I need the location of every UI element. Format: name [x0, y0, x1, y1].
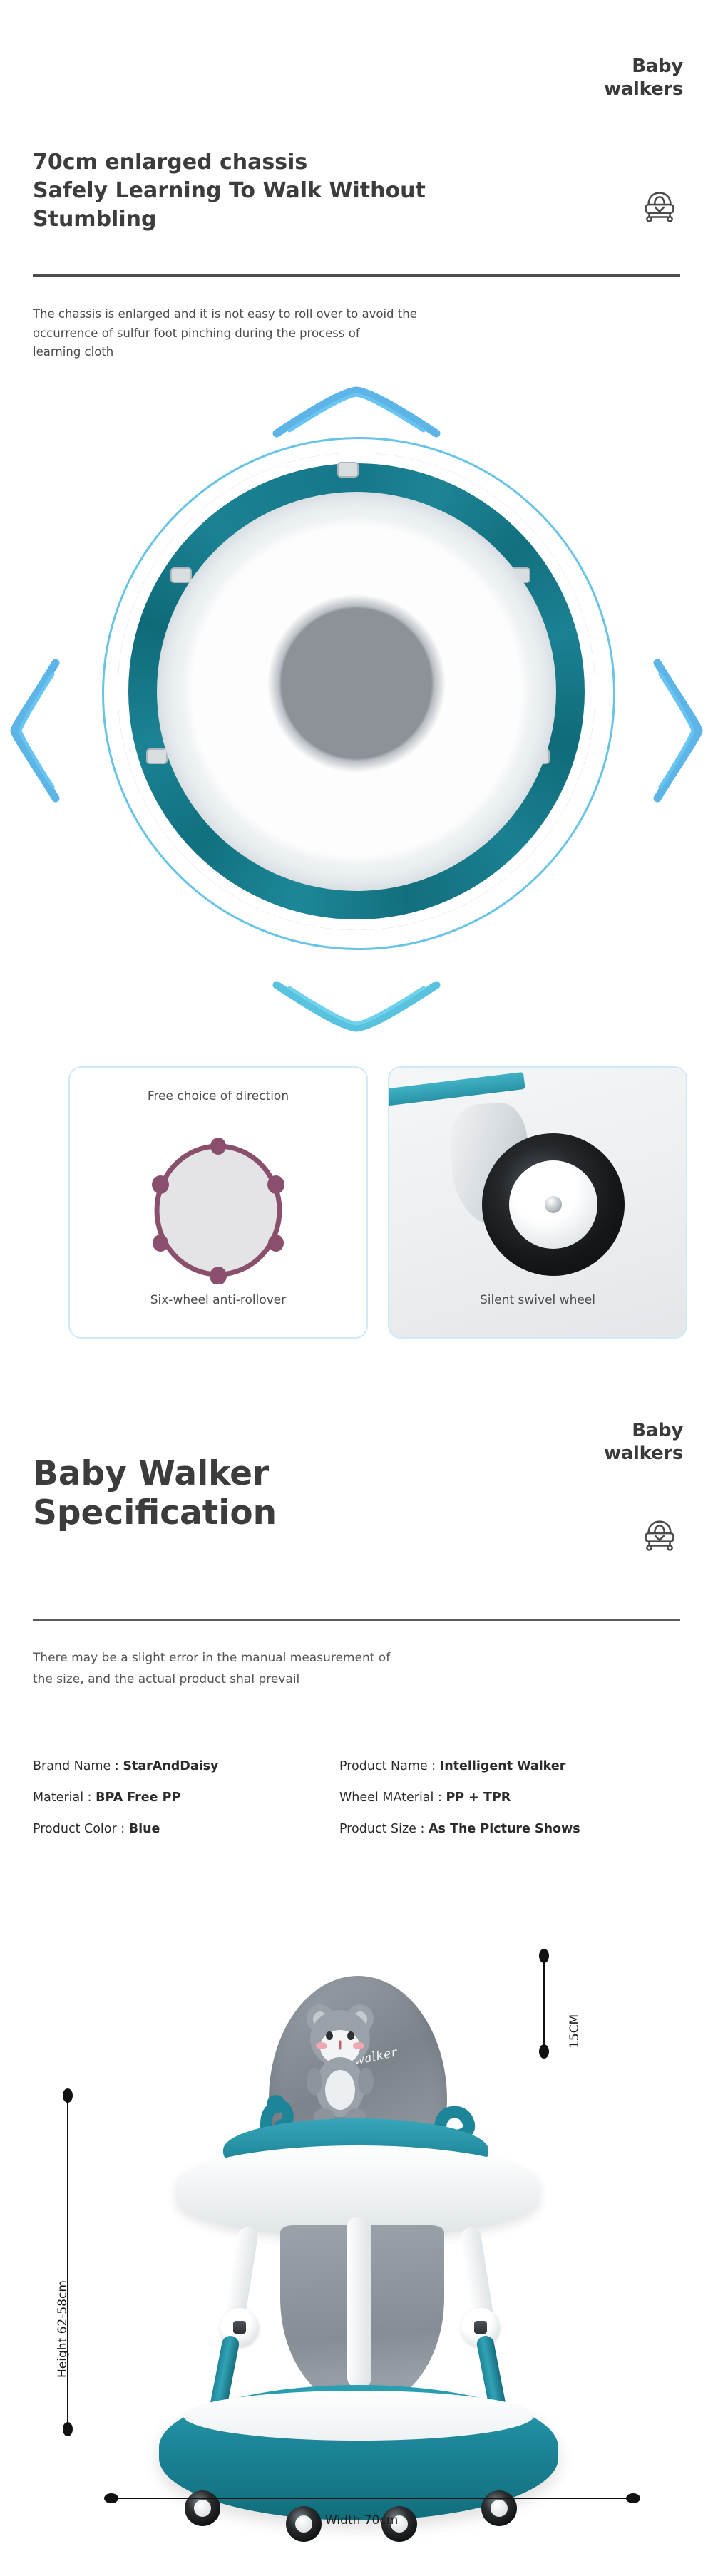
seat-fabric	[282, 622, 431, 800]
chassis-clamp	[509, 567, 530, 583]
brush-arc-left	[7, 656, 63, 805]
spec-value: As The Picture Shows	[429, 1822, 580, 1836]
width-dimension-line	[111, 2498, 632, 2499]
feature-card-row: Free choice of direction Six-wheel anti-…	[0, 1066, 713, 1359]
brush-arc-right	[650, 656, 706, 805]
section-two-title: Baby Walker Specification	[33, 1454, 277, 1533]
feature-card-swivel-wheel[interactable]: Silent swivel wheel	[388, 1066, 687, 1339]
spec-row: Product Size : As The Picture Shows	[339, 1822, 682, 1836]
spec-key: Brand Name :	[33, 1759, 119, 1773]
dimension-endpoint	[63, 2422, 73, 2436]
title-divider-two	[33, 1619, 680, 1621]
spec-value: StarAndDaisy	[123, 1759, 218, 1773]
brush-arc-top	[271, 383, 442, 439]
chassis-clamp	[337, 462, 359, 478]
chassis-clamp	[170, 567, 192, 583]
card-caption-bottom: Six-wheel anti-rollover	[70, 1293, 366, 1307]
title-divider-one	[33, 274, 680, 277]
caster-wheel	[185, 2490, 220, 2526]
spec-row: Wheel MAterial : PP + TPR	[339, 1791, 682, 1805]
dimension-diagram: babywalker	[0, 1889, 713, 2576]
caster-wheel	[481, 2490, 517, 2526]
spec-row: Material : BPA Free PP	[33, 1791, 339, 1805]
seat-height-label: 15CM	[568, 2014, 582, 2049]
baby-walker-icon	[637, 1513, 682, 1557]
frame-center-post	[347, 2217, 371, 2388]
spec-row: Brand Name : StarAndDaisy	[33, 1759, 339, 1773]
spec-value: Blue	[129, 1822, 160, 1836]
specification-grid: Brand Name : StarAndDaisy Product Name :…	[33, 1759, 682, 1836]
overall-height-dimension-line	[67, 2094, 68, 2429]
spec-key: Wheel MAterial :	[339, 1791, 442, 1805]
dimension-endpoint	[104, 2493, 118, 2503]
spec-value: BPA Free PP	[96, 1791, 180, 1805]
product-photo: babywalker	[146, 1932, 567, 2509]
card-caption-top: Free choice of direction	[70, 1089, 366, 1103]
dimension-endpoint	[539, 2044, 549, 2059]
walker-frame-bar	[388, 1072, 525, 1106]
section-one-description: The chassis is enlarged and it is not ea…	[33, 305, 603, 362]
overall-height-label: Height 62-58cm	[56, 2280, 70, 2378]
spec-key: Product Size :	[339, 1822, 424, 1836]
section-one-title: 70cm enlarged chassis Safely Learning To…	[33, 148, 426, 234]
card-caption-bottom: Silent swivel wheel	[389, 1293, 686, 1307]
dimension-endpoint	[626, 2493, 640, 2503]
caster-wheel	[286, 2506, 322, 2542]
section-two-description: There may be a slight error in the manua…	[33, 1648, 617, 1691]
brand-tag-bottom: Baby walkers	[604, 1420, 683, 1465]
spec-key: Product Color :	[33, 1822, 125, 1836]
chassis-clamp	[528, 748, 550, 764]
baby-walker-icon	[637, 184, 682, 228]
spec-row: Product Name : Intelligent Walker	[339, 1759, 682, 1773]
spec-key: Product Name :	[339, 1759, 436, 1773]
feature-card-six-wheel[interactable]: Free choice of direction Six-wheel anti-…	[68, 1066, 368, 1339]
six-wheel-ring-diagram	[136, 1136, 300, 1288]
brush-arc-bottom	[271, 979, 442, 1035]
chassis-clamp	[146, 748, 168, 764]
hero-chassis-image	[0, 371, 713, 1069]
chassis-ring	[118, 453, 595, 930]
brand-tag-top: Baby walkers	[604, 56, 683, 101]
width-label: Width 70cm	[325, 2513, 398, 2528]
chassis-clamp	[337, 873, 359, 889]
seat-height-dimension-line	[543, 1954, 545, 2051]
spec-key: Material :	[33, 1791, 92, 1805]
spec-row: Product Color : Blue	[33, 1822, 339, 1836]
dimension-endpoint	[539, 1949, 549, 1963]
dimension-endpoint	[63, 2088, 73, 2103]
spec-value: Intelligent Walker	[440, 1759, 566, 1773]
wheel-bolt	[545, 1196, 562, 1213]
spec-value: PP + TPR	[446, 1791, 511, 1805]
